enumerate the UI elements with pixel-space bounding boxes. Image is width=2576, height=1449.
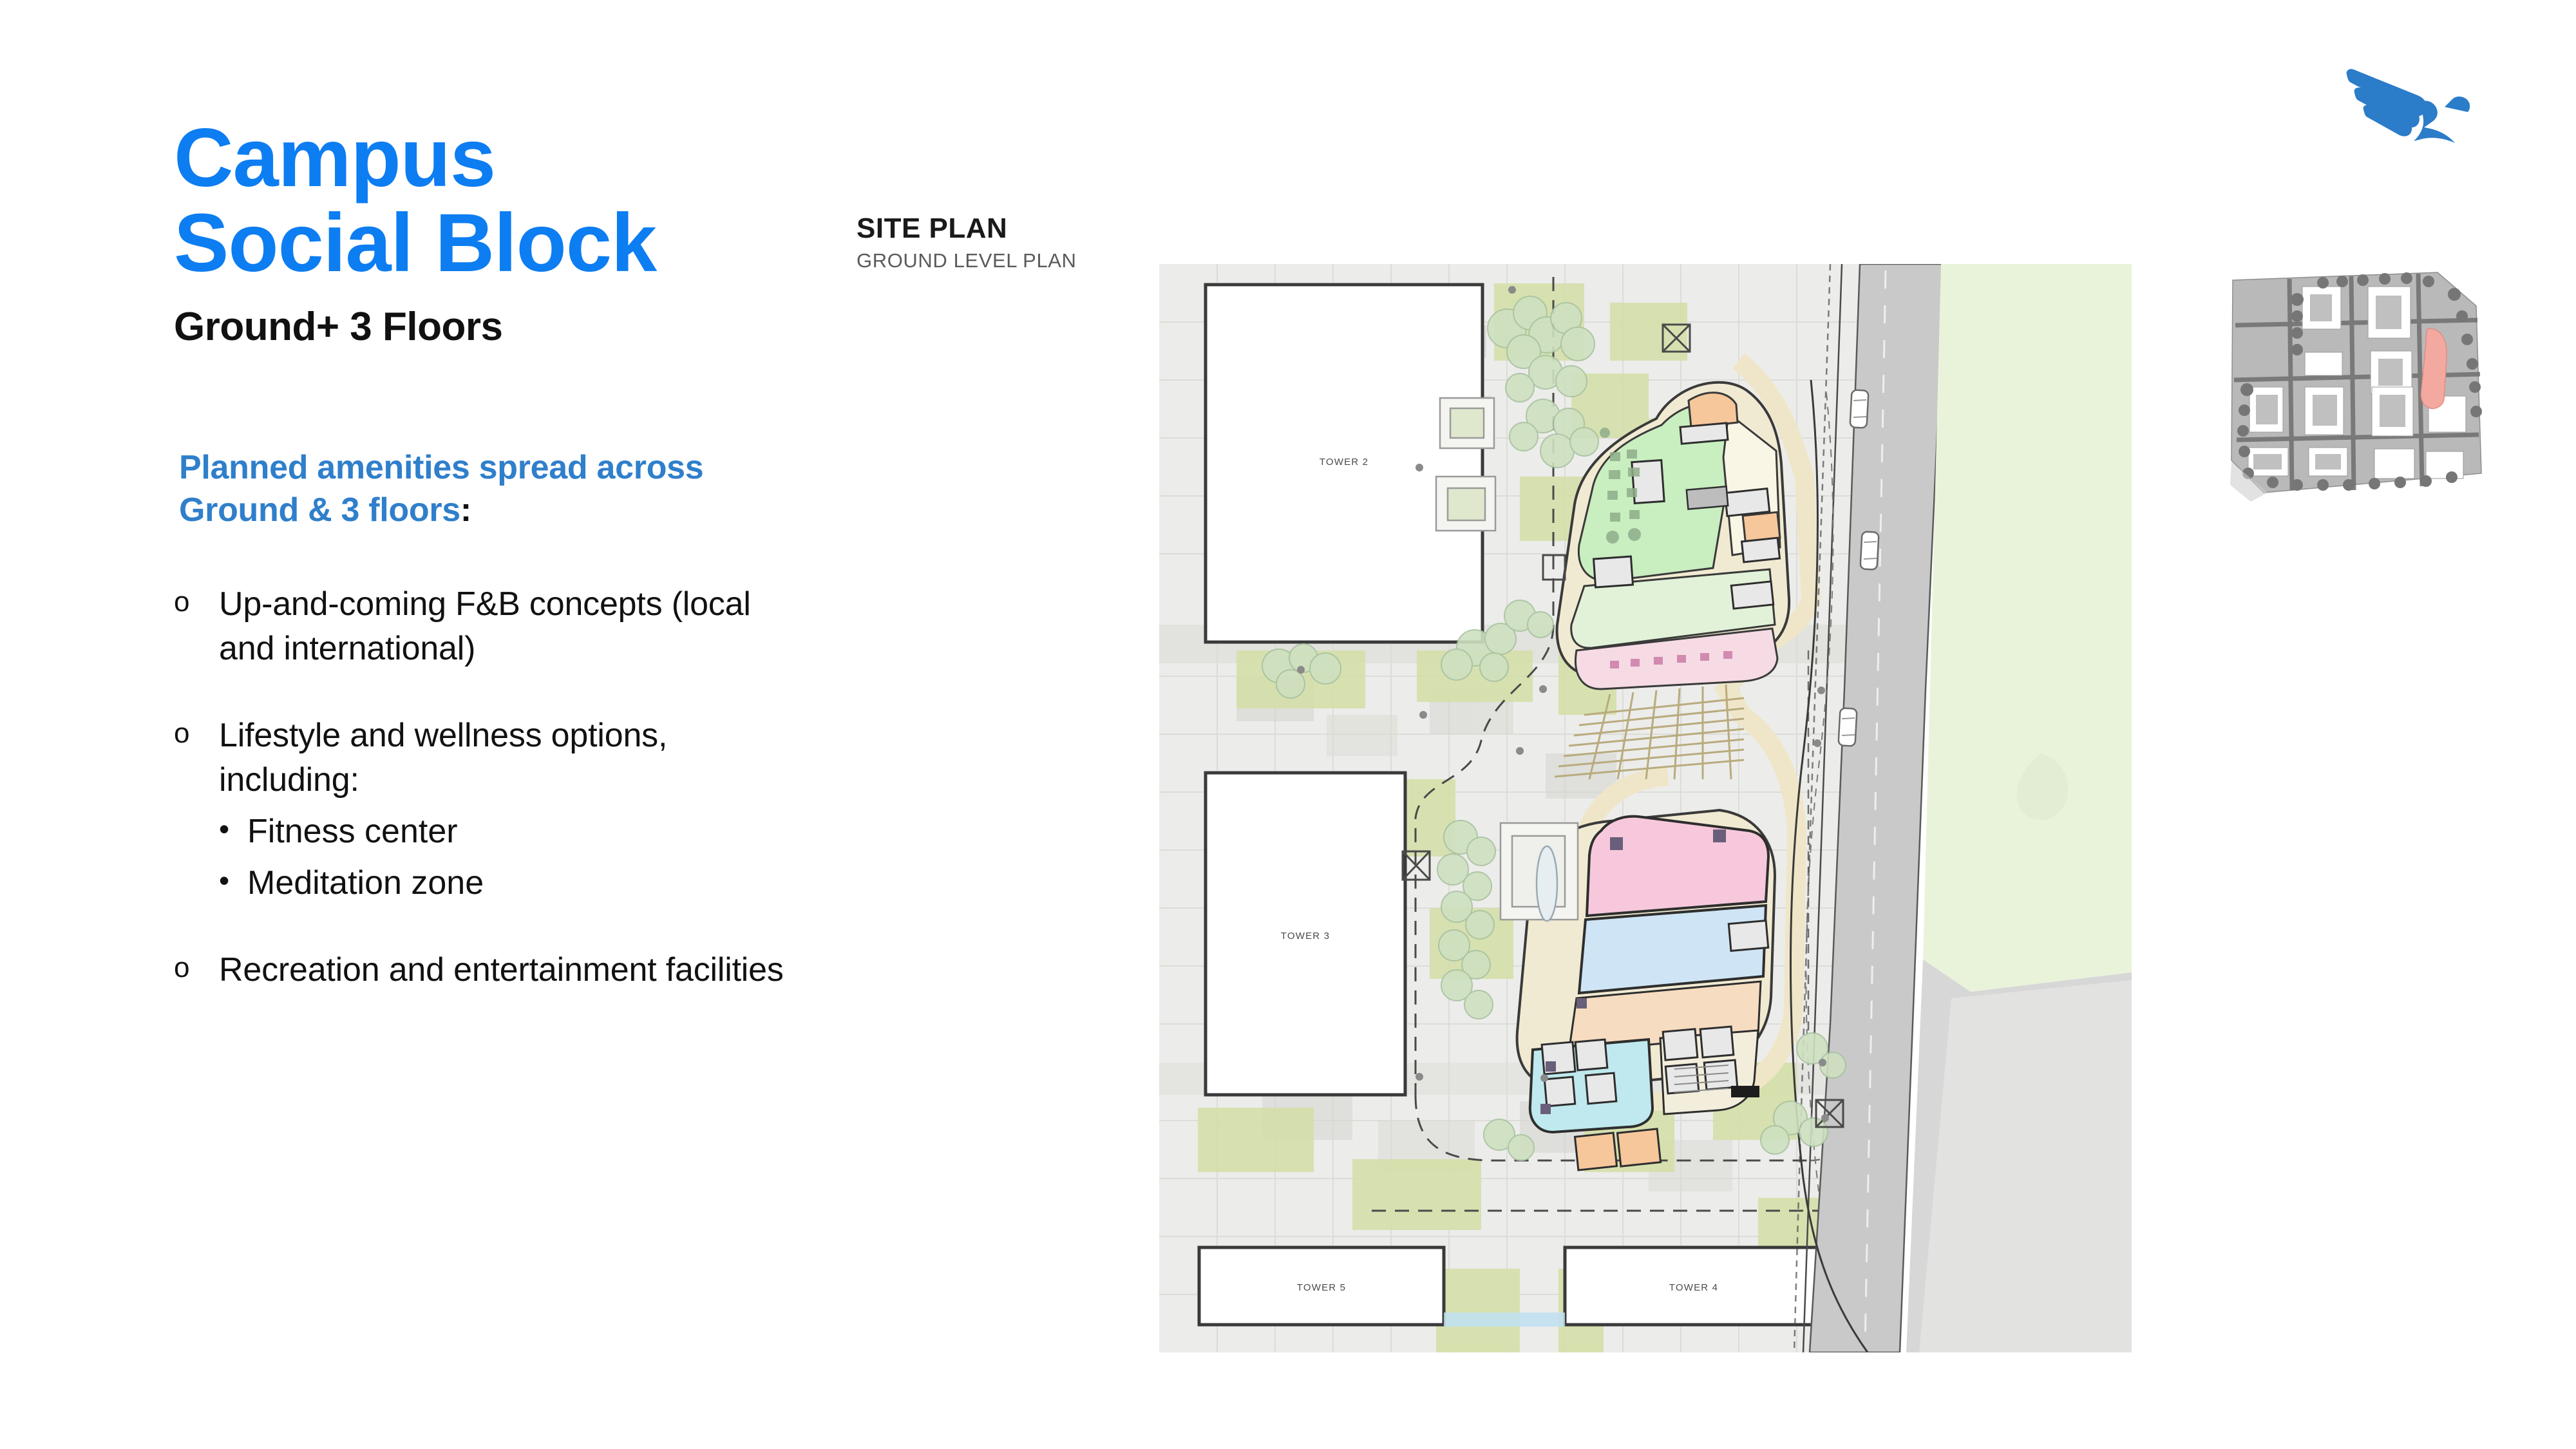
tower-4-block: TOWER 4 <box>1565 1247 1823 1325</box>
text-column: Campus Social Block Ground+ 3 Floors Pla… <box>174 116 792 1035</box>
sub-list-item-text: Meditation zone <box>247 862 484 905</box>
sub-list: • Fitness center • Meditation zone <box>219 810 792 905</box>
title-line-1: Campus <box>174 112 495 204</box>
list-item-text: Lifestyle and wellness options, includin… <box>219 717 667 799</box>
bullet-marker-icon: o <box>174 582 219 621</box>
site-plan-heading: SITE PLAN <box>857 213 1077 245</box>
site-plan-subheading: GROUND LEVEL PLAN <box>857 249 1077 272</box>
sub-bullet-dot-icon: • <box>219 862 247 900</box>
list-item: o Lifestyle and wellness options, includ… <box>174 714 792 905</box>
key-plan-thumbnail <box>2225 261 2489 509</box>
sub-list-item: • Fitness center <box>219 810 792 854</box>
tower-label: TOWER 2 <box>1320 457 1368 468</box>
list-item-text: Recreation and entertainment facilities <box>219 948 784 992</box>
tower-5-block: TOWER 5 <box>1199 1247 1444 1325</box>
sub-list-item: • Meditation zone <box>219 862 792 905</box>
tower-label: TOWER 3 <box>1281 931 1330 942</box>
site-plan-caption: SITE PLAN GROUND LEVEL PLAN <box>857 213 1077 272</box>
list-item-body: Lifestyle and wellness options, includin… <box>219 714 792 905</box>
tower-label: TOWER 5 <box>1297 1282 1346 1293</box>
tower-3-block: TOWER 3 <box>1206 773 1405 1095</box>
park-area <box>1923 264 2132 992</box>
list-item: o Up-and-coming F&B concepts (local and … <box>174 582 792 671</box>
site-plan-drawing: TOWER 2 TOWER 3 TOWER 5 TOWER 4 <box>1159 264 2132 1352</box>
sub-list-item-text: Fitness center <box>247 810 458 854</box>
bullet-marker-icon: o <box>174 948 219 987</box>
tower-label: TOWER 4 <box>1669 1282 1718 1293</box>
tower-2-block: TOWER 2 <box>1206 285 1482 642</box>
falcon-bird-logo-icon <box>2342 57 2494 153</box>
list-item-text: Up-and-coming F&B concepts (local and in… <box>219 582 792 671</box>
list-item: o Recreation and entertainment facilitie… <box>174 948 792 992</box>
lead-paragraph: Planned amenities spread across Ground &… <box>179 446 792 532</box>
title-line-2: Social Block <box>174 197 656 289</box>
lead-colon: : <box>460 491 471 529</box>
sub-bullet-dot-icon: • <box>219 810 247 849</box>
bullet-marker-icon: o <box>174 714 219 753</box>
amenities-list: o Up-and-coming F&B concepts (local and … <box>174 582 792 992</box>
lead-text: Planned amenities spread across Ground &… <box>179 449 703 529</box>
page-subtitle: Ground+ 3 Floors <box>174 304 792 350</box>
page-title: Campus Social Block <box>174 116 792 286</box>
